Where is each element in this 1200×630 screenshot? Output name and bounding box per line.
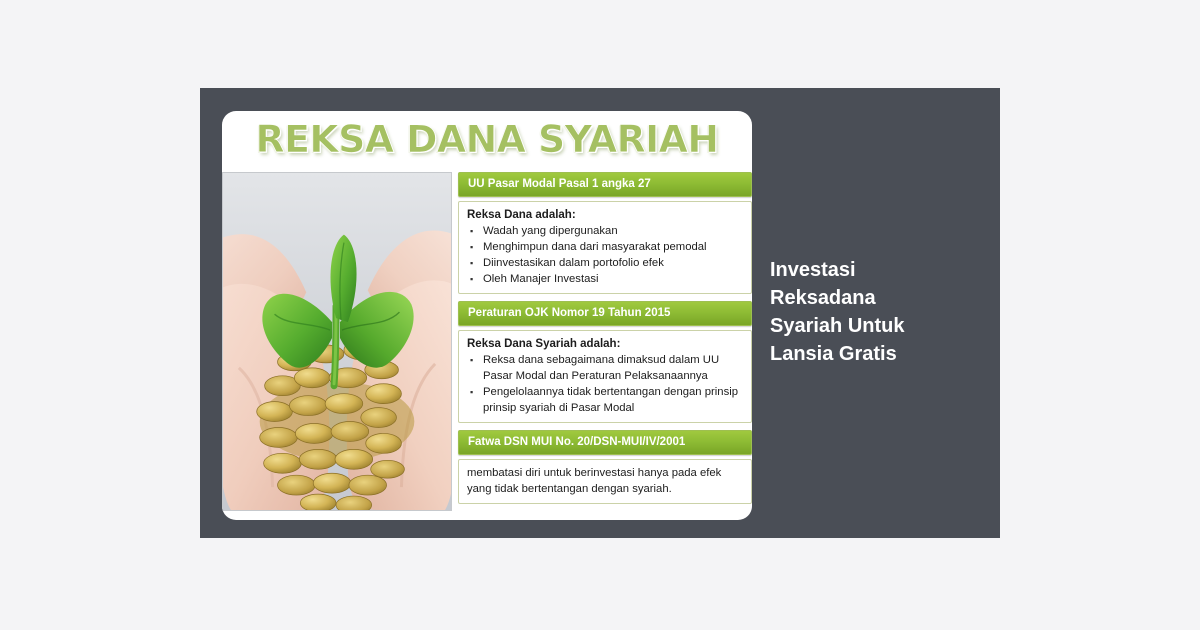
page-title: REKSA DANA SYARIAH xyxy=(222,117,752,163)
slide-card: REKSA DANA SYARIAH xyxy=(222,111,752,520)
section-spacer xyxy=(458,294,752,301)
caption-line-4: Lansia Gratis xyxy=(770,340,970,368)
caption-text: Investasi Reksadana Syariah Untuk Lansia… xyxy=(770,256,970,368)
section-bar-fatwa-dsn-mui: Fatwa DSN MUI No. 20/DSN-MUI/IV/2001 xyxy=(458,430,752,455)
caption-line-3: Syariah Untuk xyxy=(770,312,970,340)
page-root: REKSA DANA SYARIAH xyxy=(0,0,1200,630)
list-item: Wadah yang dipergunakan xyxy=(467,224,745,240)
section-box-reksa-dana-syariah: Reksa Dana Syariah adalah: Reksa dana se… xyxy=(458,330,752,422)
section-spacer xyxy=(458,423,752,430)
list-item: Menghimpun dana dari masyarakat pemodal xyxy=(467,240,745,256)
section-box-fatwa-text: membatasi diri untuk berinvestasi hanya … xyxy=(458,459,752,504)
list-item: Oleh Manajer Investasi xyxy=(467,272,745,288)
section-heading: Reksa Dana adalah: xyxy=(467,207,745,223)
section-box-reksa-dana: Reksa Dana adalah: Wadah yang dipergunak… xyxy=(458,201,752,294)
section-bar-peraturan-ojk: Peraturan OJK Nomor 19 Tahun 2015 xyxy=(458,301,752,326)
section-bullet-list: Wadah yang dipergunakan Menghimpun dana … xyxy=(467,224,745,288)
list-item: Pengelolaannya tidak bertentangan dengan… xyxy=(467,385,745,416)
hands-coins-sprout-photo xyxy=(222,172,452,511)
section-paragraph: membatasi diri untuk berinvestasi hanya … xyxy=(467,465,745,498)
list-item: Reksa dana sebagaimana dimaksud dalam UU… xyxy=(467,353,745,384)
section-bar-uu-pasar-modal: UU Pasar Modal Pasal 1 angka 27 xyxy=(458,172,752,197)
slide-content-column: UU Pasar Modal Pasal 1 angka 27 Reksa Da… xyxy=(458,172,752,517)
presentation-stage: REKSA DANA SYARIAH xyxy=(200,88,1000,538)
section-bullet-list: Reksa dana sebagaimana dimaksud dalam UU… xyxy=(467,353,745,416)
section-heading: Reksa Dana Syariah adalah: xyxy=(467,336,745,352)
list-item: Diinvestasikan dalam portofolio efek xyxy=(467,256,745,272)
caption-line-1: Investasi xyxy=(770,256,970,284)
caption-line-2: Reksadana xyxy=(770,284,970,312)
